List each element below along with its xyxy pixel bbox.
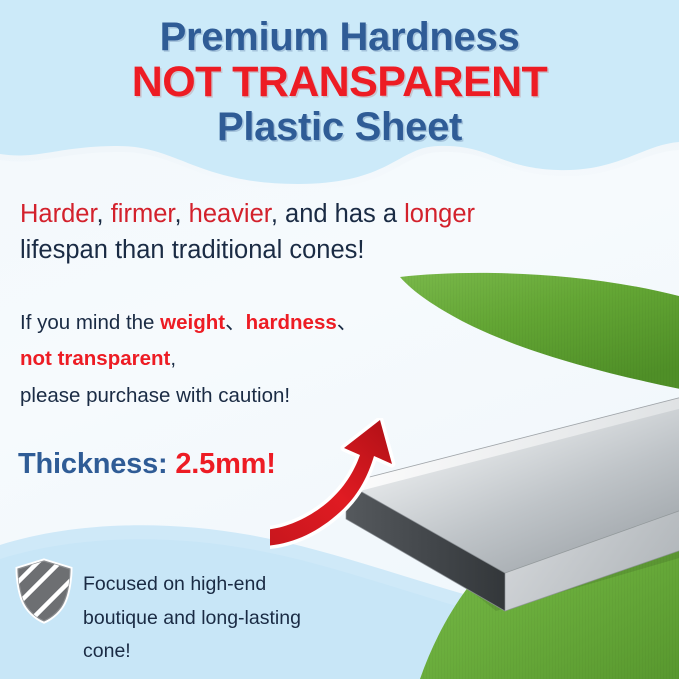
title-line-2: NOT TRANSPARENT <box>0 59 679 105</box>
claim-word-harder: Harder <box>20 200 97 228</box>
thickness-value: 2.5mm! <box>175 448 275 480</box>
shield-icon <box>13 558 75 624</box>
claim-sep-1: , <box>97 200 111 228</box>
product-infographic: Premium Hardness NOT TRANSPARENT Plastic… <box>0 0 679 679</box>
title-line-1: Premium Hardness <box>0 16 679 59</box>
warning-term-not-transparent: not transparent <box>20 347 170 370</box>
red-curved-arrow <box>270 418 460 553</box>
green-sheet-top <box>400 273 679 391</box>
claim-word-firmer: firmer <box>111 200 175 228</box>
warning-lead: If you mind the <box>20 311 160 334</box>
thickness-callout: Thickness: 2.5mm! <box>18 448 276 481</box>
claim-line-1: Harder, firmer, heavier, and has a longe… <box>20 196 620 232</box>
warning-punct-1: 、 <box>225 311 246 334</box>
header-title-group: Premium Hardness NOT TRANSPARENT Plastic… <box>0 0 679 149</box>
title-line-3: Plastic Sheet <box>0 106 679 149</box>
warning-punct-3: , <box>170 347 176 370</box>
thickness-label: Thickness: <box>18 448 175 480</box>
claim-mid-text: , and has a <box>271 200 404 228</box>
warning-term-weight: weight <box>160 311 225 334</box>
claim-word-heavier: heavier <box>189 200 271 228</box>
claim-sep-2: , <box>174 200 188 228</box>
claim-word-longer: longer <box>404 200 475 228</box>
